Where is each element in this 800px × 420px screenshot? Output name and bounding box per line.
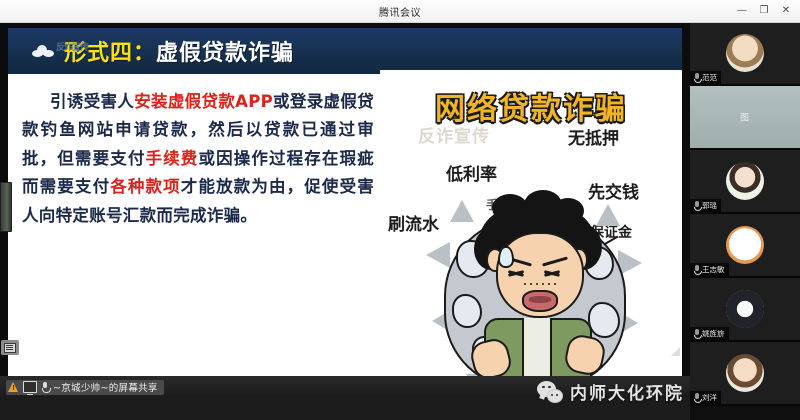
slide-title: 形式四：虚假贷款诈骗 <box>64 35 294 67</box>
participant-name: 刘洋 <box>702 394 717 402</box>
illustration-label-low-rate: 低利率 <box>446 160 497 185</box>
avatar <box>726 162 764 200</box>
illustration-label-no-collateral: 无抵押 <box>568 124 619 149</box>
presentation-slide: 反诈宣传 形式四：虚假贷款诈骗 引诱受害人安装虚假贷款APP或登录虚假贷款钓鱼网… <box>8 28 682 390</box>
close-button[interactable]: ✕ <box>776 2 796 20</box>
title-bar: 腾讯会议 — ❐ ✕ <box>0 0 800 23</box>
wechat-account-name: 内师大化环院 <box>570 379 684 404</box>
slide-body: 引诱受害人安装虚假贷款APP或登录虚假贷款钓鱼网站申请贷款，然后以贷款已通过审批… <box>8 74 682 390</box>
avatar <box>726 226 764 264</box>
shared-screen-stage[interactable]: 反诈宣传 形式四：虚假贷款诈骗 引诱受害人安装虚假贷款APP或登录虚假贷款钓鱼网… <box>0 22 690 398</box>
participant-name-bar: 刘洋 <box>690 391 721 404</box>
window-controls: — ❐ ✕ <box>732 0 796 22</box>
wechat-logo-icon <box>537 381 563 403</box>
paragraph-part: 引诱受害人 <box>50 92 134 111</box>
microphone-muted-icon <box>693 329 700 338</box>
participant-name-bar: 王志敏 <box>690 263 729 276</box>
paragraph-part-highlight: 手续费 <box>146 149 199 168</box>
participant-tile[interactable]: 刘洋 <box>690 342 800 406</box>
participant-name: 姚旌旂 <box>702 330 725 338</box>
wechat-watermark: 内师大化环院 <box>537 379 684 404</box>
microphone-muted-icon <box>693 201 700 210</box>
paragraph-part-highlight: 安装虚假贷款APP <box>134 92 273 111</box>
character-head <box>478 202 596 322</box>
minimize-button[interactable]: — <box>732 2 752 20</box>
participant-name-bar: 范范 <box>690 71 721 84</box>
shared-preview-label: 图 <box>740 111 750 124</box>
microphone-icon[interactable] <box>41 382 49 393</box>
slide-scrollbar-thumb[interactable] <box>0 182 12 232</box>
avatar <box>726 34 764 72</box>
participant-name: 郭瑶 <box>702 202 717 210</box>
participant-name: 王志敏 <box>702 266 725 274</box>
slide-view-button[interactable] <box>1 340 19 355</box>
screen-share-indicator[interactable]: ~京城少帅~的屏幕共享 <box>6 380 164 395</box>
slide-page-corner <box>671 347 680 356</box>
avatar <box>726 354 764 392</box>
illustration-watermark: 反诈宣传 <box>418 122 490 147</box>
window-title: 腾讯会议 <box>379 4 421 19</box>
virus-character-graphic <box>426 198 640 390</box>
screen-share-icon[interactable] <box>23 381 37 393</box>
slide-header-ghost-text: 反诈宣传 <box>56 40 88 53</box>
slide-paragraph: 引诱受害人安装虚假贷款APP或登录虚假贷款钓鱼网站申请贷款，然后以贷款已通过审批… <box>22 88 374 230</box>
screen-share-label: ~京城少帅~的屏幕共享 <box>53 380 158 394</box>
participant-name-bar: 郭瑶 <box>690 199 721 212</box>
participant-tile-shared-preview[interactable]: 图 <box>690 86 800 150</box>
paragraph-part-highlight: 各种款项 <box>110 177 181 196</box>
participant-strip[interactable]: 范范 图 正在讲话: ~京城少帅~ 郭瑶 王志敏 <box>690 22 800 420</box>
microphone-muted-icon <box>693 265 700 274</box>
microphone-muted-icon <box>693 393 700 402</box>
participant-name: 范范 <box>702 74 717 82</box>
tencent-meeting-window: 腾讯会议 — ❐ ✕ 反诈宣传 形式四：虚假贷款诈骗 引诱受害人安装虚假贷款AP… <box>0 0 800 420</box>
warning-icon <box>8 382 19 392</box>
cloud-icon <box>32 45 54 57</box>
fraud-illustration: 网络贷款诈骗 反诈宣传 无抵押 低利率 先交钱 刷流水 手续费 保证金 <box>380 70 682 390</box>
participant-tile[interactable]: 姚旌旂 <box>690 278 800 342</box>
participant-tile[interactable]: 范范 <box>690 22 800 86</box>
participant-name-bar: 姚旌旂 <box>690 327 729 340</box>
avatar <box>726 290 764 328</box>
participant-tile[interactable]: 王志敏 <box>690 214 800 278</box>
slide-header: 反诈宣传 形式四：虚假贷款诈骗 <box>8 28 682 74</box>
slide-title-main: 虚假贷款诈骗 <box>156 41 294 66</box>
microphone-muted-icon <box>693 73 700 82</box>
maximize-button[interactable]: ❐ <box>754 2 774 20</box>
participant-tile[interactable]: 郭瑶 <box>690 150 800 214</box>
